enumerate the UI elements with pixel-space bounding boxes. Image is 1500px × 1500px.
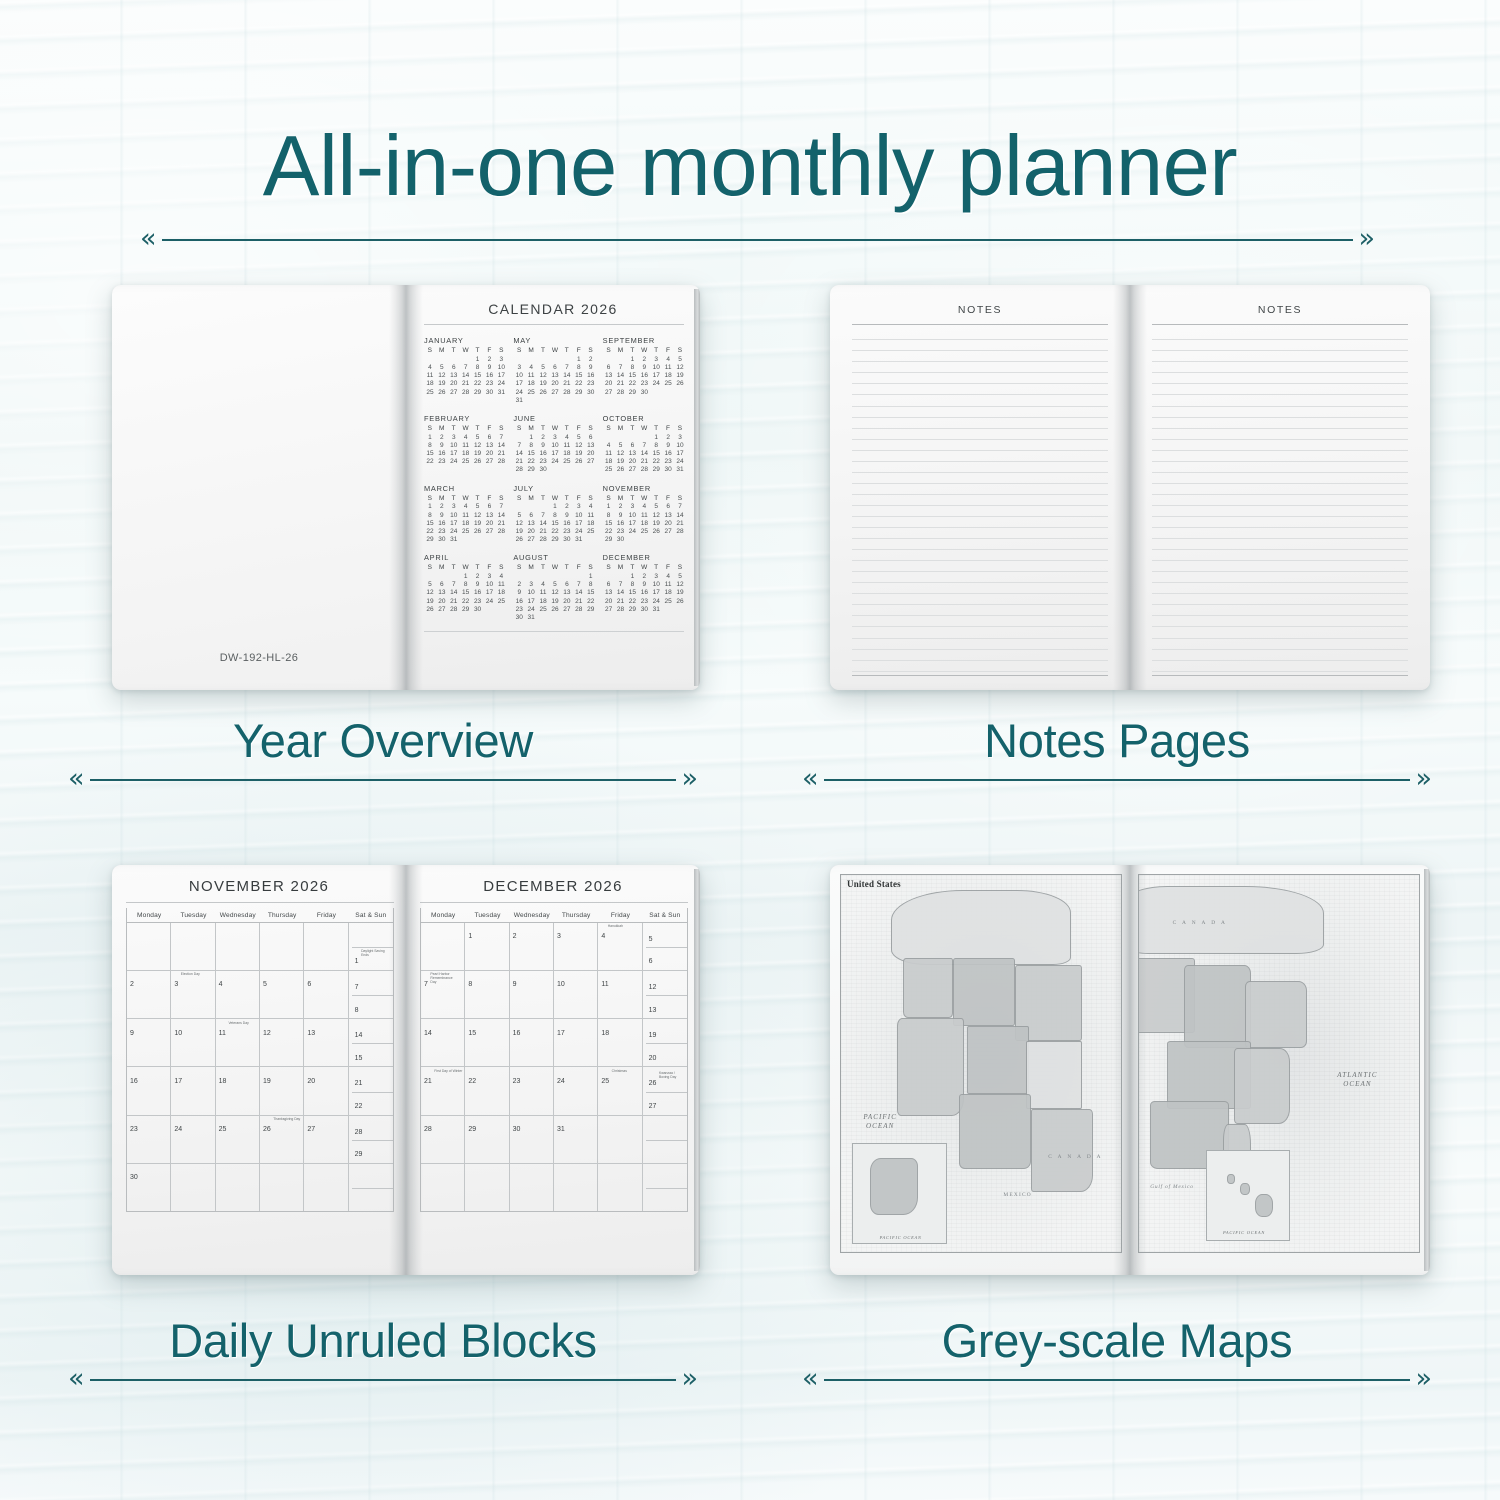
mini-calendar-week: 567891011 [513,512,596,520]
month-week-row: 1234Hanukkah56 [421,923,687,971]
map-label-inset-pacific: PACIFIC OCEAN [1215,1230,1272,1236]
map-landmass-texas [1031,1109,1093,1192]
weekend-day-cell[interactable]: 8 [352,995,393,1018]
day-cell[interactable]: 9 [510,971,554,1018]
weekday-header: Sat & Sun [643,908,687,922]
weekend-cell[interactable]: 26Kwanzaa / Boxing Day27 [643,1067,687,1114]
mini-calendar-week: 1234567 [603,503,686,511]
day-cell[interactable]: 6 [304,971,348,1018]
day-cell[interactable]: 3 [554,923,598,970]
day-cell[interactable]: 4 [216,971,260,1018]
day-cell[interactable] [260,923,304,970]
notes-line [1152,583,1408,594]
day-event-label: Thanksgiving Day [273,1118,300,1122]
day-cell[interactable] [216,923,260,970]
weekend-day-cell[interactable]: 15 [352,1043,393,1066]
day-number: 1 [468,933,472,940]
day-cell[interactable]: 12 [260,1019,304,1066]
weekend-cell[interactable]: 1213 [643,971,687,1018]
mini-calendar-week: 123 [424,356,507,364]
mini-calendar-week: 6789101112 [603,364,686,372]
day-number: 13 [649,1007,657,1014]
day-number: 16 [130,1078,138,1085]
day-number: 3 [174,981,178,988]
day-cell[interactable] [465,1164,509,1211]
weekend-cell[interactable]: 1920 [643,1019,687,1066]
day-cell[interactable]: 24 [554,1067,598,1114]
month-week-row: 16171819202122 [127,1067,393,1115]
mini-calendar-week: 3456789 [513,364,596,372]
day-cell[interactable]: 25Christmas [598,1067,642,1114]
day-cell[interactable]: 17 [554,1019,598,1066]
day-number: 25 [601,1078,609,1085]
weekend-day-cell[interactable]: 26Kwanzaa / Boxing Day [646,1070,687,1092]
day-cell[interactable]: 30 [127,1164,171,1211]
map-landmass-nevada-utah [967,1026,1029,1094]
weekend-day-cell[interactable] [352,925,393,947]
day-cell[interactable]: 23 [510,1067,554,1114]
book-edge [694,289,700,686]
mini-calendar-week: 123 [603,434,686,442]
day-cell[interactable]: 28 [421,1116,465,1163]
day-cell[interactable] [171,923,215,970]
notes-heading-left: NOTES [830,285,1130,316]
chevron-left-icon: « [140,228,164,252]
day-number: 12 [649,984,657,991]
weekend-day-cell[interactable] [352,1166,393,1188]
day-number: 18 [219,1078,227,1085]
weekday-header: Friday [304,908,348,922]
notes-line [852,539,1108,550]
weekday-header: Wednesday [216,908,260,922]
map-inset-hawaii: PACIFIC OCEAN [1206,1150,1290,1240]
mini-calendar-december: DECEMBERSMTWTFS1234567891011121314151617… [603,553,686,622]
mini-calendar-week: 12131415161718 [424,589,507,597]
day-number: 4 [219,981,223,988]
day-cell[interactable]: 1 [465,923,509,970]
month-week-row: 28293031 [421,1116,687,1164]
month-title-rule [420,902,688,903]
mini-calendar-week: 1234 [513,503,596,511]
day-cell[interactable]: 5 [260,971,304,1018]
day-cell[interactable]: 2 [127,971,171,1018]
notes-footer-rule [1152,675,1408,676]
day-cell[interactable] [260,1164,304,1211]
notes-line [1152,462,1408,473]
day-cell[interactable]: 23 [127,1116,171,1163]
day-cell[interactable] [598,1164,642,1211]
day-cell[interactable] [216,1164,260,1211]
weekend-cell[interactable]: 56 [643,923,687,970]
day-cell[interactable]: 2 [510,923,554,970]
weekend-day-cell[interactable]: 21 [352,1070,393,1092]
divider-notes-pages: « » [802,768,1432,792]
notes-line [852,605,1108,616]
notes-line [1152,329,1408,340]
notes-line [852,517,1108,528]
day-number: 9 [513,981,517,988]
mini-calendar-february: FEBRUARYSMTWTFS1234567891011121314151617… [424,414,507,475]
map-landmass-canada-east [1138,886,1324,954]
weekday-header: Thursday [554,908,598,922]
book-edge [694,869,700,1271]
mini-calendar-week: 18192021222324 [603,458,686,466]
mini-calendar-month-name: FEBRUARY [424,414,507,423]
mini-calendar-week: 19202122232425 [424,598,507,606]
day-cell[interactable]: 19 [260,1067,304,1114]
day-cell[interactable] [304,923,348,970]
map-landmass-california [897,1018,964,1116]
map-right-page: ATLANTIC OCEAN C A N A D A Gulf of Mexic… [1130,865,1430,1275]
mini-calendar-weekday-row: SMTWTFS [603,564,686,572]
map-left-page: United States PACIFIC OCEAN C A N A D A … [830,865,1130,1275]
divider-line [824,779,1410,781]
page-title: All-in-one monthly planner [0,118,1500,216]
day-cell[interactable]: 17 [171,1067,215,1114]
map-landmass-pnw [903,958,953,1018]
day-number: 14 [355,1032,363,1039]
weekend-cell[interactable] [349,1164,393,1211]
caption-grey-scale-maps: Grey-scale Maps [802,1313,1432,1368]
map-label-canada: C A N A D A [1048,1154,1103,1160]
day-cell[interactable]: 30 [510,1116,554,1163]
notes-line [1152,484,1408,495]
sku-label: DW-192-HL-26 [112,652,406,664]
mini-calendar-week: 13141516171819 [603,589,686,597]
map-frame-left: United States PACIFIC OCEAN C A N A D A … [840,874,1122,1253]
map-title: United States [847,879,901,889]
day-event-label: Kwanzaa / Boxing Day [659,1072,686,1080]
mini-calendar-weekday-row: SMTWTFS [603,425,686,433]
notes-line [1152,506,1408,517]
weekend-day-cell[interactable]: 20 [646,1043,687,1066]
day-number: 17 [557,1030,565,1037]
mini-calendar-week: 16171819202122 [513,598,596,606]
day-number: 21 [424,1078,432,1085]
notes-line [852,506,1108,517]
map-label-inset-pacific: PACIFIC OCEAN [872,1235,930,1241]
day-number: 4 [601,933,605,940]
weekend-day-cell[interactable]: 19 [646,1022,687,1044]
map-landmass-alaska [870,1158,918,1216]
mini-calendar-january: JANUARYSMTWTFS12345678910111213141516171… [424,336,507,405]
day-number: 20 [649,1055,657,1062]
day-cell[interactable]: 24 [171,1116,215,1163]
notes-line [1152,517,1408,528]
notes-line [1152,418,1408,429]
day-cell[interactable] [127,923,171,970]
day-cell[interactable]: 4Hanukkah [598,923,642,970]
day-number: 10 [557,981,565,988]
day-number: 16 [513,1030,521,1037]
day-cell[interactable]: 16 [127,1067,171,1114]
chevron-right-icon: » [1408,768,1432,792]
notes-line [852,451,1108,462]
map-landmass-northern-plains [953,958,1015,1026]
weekend-cell[interactable]: 2829 [349,1116,393,1163]
day-cell[interactable]: 10 [171,1019,215,1066]
day-cell[interactable]: 22 [465,1067,509,1114]
book-edge [1424,869,1430,1271]
weekend-day-cell[interactable]: 7 [352,973,393,995]
mini-calendar-week: 14151617181920 [513,450,596,458]
weekday-header: Monday [421,908,465,922]
mini-calendar-week: 10111213141516 [513,372,596,380]
mini-calendar-week: 2627282930 [424,606,507,614]
mini-calendar-week: 17181920212223 [513,380,596,388]
day-cell[interactable] [421,1164,465,1211]
day-cell[interactable]: 13 [304,1019,348,1066]
weekend-day-cell[interactable] [646,1188,687,1211]
notes-ruled-lines-left [830,329,1130,671]
day-cell[interactable]: 26Thanksgiving Day [260,1116,304,1163]
monthly-right-page: DECEMBER 2026 MondayTuesdayWednesdayThur… [406,865,700,1275]
day-cell[interactable]: 18 [598,1019,642,1066]
day-cell[interactable] [421,923,465,970]
notes-line [1152,661,1408,672]
notes-line [1152,429,1408,440]
mini-calendar-week: 22232425262728 [603,528,686,536]
day-event-label: Pearl Harbor Remembrance Day [430,973,458,985]
day-cell[interactable] [598,1116,642,1163]
notes-line [852,373,1108,384]
weekend-day-cell[interactable]: 5 [646,925,687,947]
day-cell[interactable]: 29 [465,1116,509,1163]
notes-line [1152,451,1408,462]
mini-calendar-week: 23242526272829 [513,606,596,614]
notes-footer-rule [852,675,1108,676]
mini-calendar-week: 293031 [424,536,507,544]
month-week-row: 23242526Thanksgiving Day272829 [127,1116,393,1164]
weekend-day-cell[interactable]: 14 [352,1022,393,1044]
weekend-day-cell[interactable] [352,1188,393,1211]
divider-line [90,1379,676,1381]
day-event-label: Christmas [612,1070,627,1074]
mini-calendar-april: APRILSMTWTFS1234567891011121314151617181… [424,553,507,622]
day-cell[interactable]: 27 [304,1116,348,1163]
caption-daily-unruled-blocks: Daily Unruled Blocks [68,1313,698,1368]
notes-heading-rule [1152,324,1408,325]
day-cell[interactable]: 18 [216,1067,260,1114]
weekend-cell[interactable]: 1415 [349,1019,393,1066]
mini-calendar-week: 282930 [513,466,596,474]
day-cell[interactable] [554,1164,598,1211]
weekend-day-cell[interactable]: 6 [646,947,687,970]
mini-calendar-week: 20212223242526 [603,380,686,388]
monthly-planner-book: NOVEMBER 2026 MondayTuesdayWednesdayThur… [112,865,700,1275]
chevron-right-icon: » [1408,1368,1432,1392]
weekend-day-cell[interactable] [646,1140,687,1163]
weekday-header: Sat & Sun [349,908,393,922]
map-frame-right: ATLANTIC OCEAN C A N A D A Gulf of Mexic… [1138,874,1420,1253]
notes-line [852,550,1108,561]
day-number: 7 [355,984,359,991]
notes-line [852,407,1108,418]
day-number: 27 [307,1126,315,1133]
chevron-left-icon: « [802,768,826,792]
map-landmass-northeast [1245,981,1307,1049]
notes-line [1152,384,1408,395]
notes-line [1152,340,1408,351]
day-number: 1 [355,958,359,965]
month-title-right: DECEMBER 2026 [406,865,700,895]
mini-calendar-week: 25262728293031 [424,389,507,397]
weekend-cell[interactable] [643,1164,687,1211]
weekend-day-cell[interactable] [646,1166,687,1188]
weekend-cell[interactable]: 78 [349,971,393,1018]
mini-calendar-weekday-row: SMTWTFS [513,347,596,355]
day-number: 2 [130,981,134,988]
mini-calendar-july: JULYSMTWTFS12345678910111213141516171819… [513,484,596,545]
maps-book: United States PACIFIC OCEAN C A N A D A … [830,865,1430,1275]
day-number: 22 [355,1103,363,1110]
day-number: 24 [557,1078,565,1085]
month-week-row: 7Pearl Harbor Remembrance Day8910111213 [421,971,687,1019]
notes-heading-rule [852,324,1108,325]
mini-calendar-week: 1234567 [424,503,507,511]
weekend-day-cell[interactable]: 27 [646,1092,687,1115]
day-number: 22 [468,1078,476,1085]
weekend-cell[interactable]: 1Daylight Saving Ends [349,923,393,970]
notes-line [1152,473,1408,484]
day-cell[interactable]: 8 [465,971,509,1018]
mini-calendar-week: 18192021222324 [424,380,507,388]
divider-top: « » [140,228,1375,252]
mini-calendar-september: SEPTEMBERSMTWTFS123456789101112131415161… [603,336,686,405]
day-cell[interactable]: 11 [598,971,642,1018]
mini-calendar-month-name: OCTOBER [603,414,686,423]
notes-line [1152,616,1408,627]
day-cell[interactable]: 20 [304,1067,348,1114]
weekend-cell[interactable] [643,1116,687,1163]
day-event-label: Daylight Saving Ends [361,950,388,958]
month-week-row: 14151617181920 [421,1019,687,1067]
monthly-left-page: NOVEMBER 2026 MondayTuesdayWednesdayThur… [112,865,406,1275]
day-cell[interactable]: 9 [127,1019,171,1066]
day-number: 24 [174,1126,182,1133]
weekend-cell[interactable]: 2122 [349,1067,393,1114]
map-landmass-colorado [1026,1041,1082,1109]
mini-calendar-week: 12 [513,356,596,364]
mini-calendar-week: 22232425262728 [424,458,507,466]
day-number: 11 [601,981,608,988]
weekday-header: Wednesday [510,908,554,922]
mini-calendar-week: 15161718192021 [424,450,507,458]
mini-calendar-weekday-row: SMTWTFS [424,495,507,503]
mini-calendar-week: 15161718192021 [424,520,507,528]
day-cell[interactable]: 21First Day of Winter [421,1067,465,1114]
notes-line [1152,627,1408,638]
month-grid-right: MondayTuesdayWednesdayThursdayFridaySat … [420,908,688,1212]
mini-calendar-week: 20212223242526 [603,598,686,606]
day-cell[interactable]: 10 [554,971,598,1018]
mini-calendar-week: 12345 [603,356,686,364]
mini-calendar-week: 2345678 [513,581,596,589]
day-cell[interactable]: 15 [465,1019,509,1066]
day-number: 29 [355,1151,363,1158]
map-landmass-southwest [959,1094,1032,1169]
mini-calendar-week: 3031 [513,614,596,622]
day-cell[interactable]: 16 [510,1019,554,1066]
notes-left-page: NOTES [830,285,1130,690]
weekday-header: Tuesday [171,908,215,922]
mini-calendar-month-name: NOVEMBER [603,484,686,493]
notes-line [1152,395,1408,406]
day-cell[interactable] [304,1164,348,1211]
map-landmass-hawaii [1255,1194,1273,1217]
weekend-day-cell[interactable] [646,1118,687,1140]
day-cell[interactable]: 7Pearl Harbor Remembrance Day [421,971,465,1018]
day-cell[interactable]: 25 [216,1116,260,1163]
map-landmass-maui [1240,1183,1250,1195]
mini-calendar-month-name: JUNE [513,414,596,423]
mini-calendar-weekday-row: SMTWTFS [424,425,507,433]
mini-calendar-week: 21222324252627 [513,458,596,466]
mini-calendar-week: 1 [513,573,596,581]
mini-calendar-month-name: MAY [513,336,596,345]
mini-calendar-week: 13141516171819 [603,372,686,380]
map-label-mexico: MEXICO [1003,1192,1031,1198]
notes-ruled-lines-right [1130,329,1430,671]
day-cell[interactable]: 11Veterans Day [216,1019,260,1066]
mini-calendar-weekday-row: SMTWTFS [424,347,507,355]
day-number: 17 [174,1078,182,1085]
weekend-day-cell[interactable]: 13 [646,995,687,1018]
day-cell[interactable]: 14 [421,1019,465,1066]
mini-calendar-weekday-row: SMTWTFS [424,564,507,572]
notes-line [852,639,1108,650]
notes-line [852,650,1108,661]
weekday-header-row: MondayTuesdayWednesdayThursdayFridaySat … [127,908,393,923]
day-number: 19 [649,1032,657,1039]
day-number: 12 [263,1030,271,1037]
weekend-day-cell[interactable]: 12 [646,973,687,995]
weekend-day-cell[interactable]: 22 [352,1092,393,1115]
day-cell[interactable]: 3Election Day [171,971,215,1018]
mini-calendar-month-name: SEPTEMBER [603,336,686,345]
notes-line [852,616,1108,627]
mini-calendar-month-name: JANUARY [424,336,507,345]
day-number: 21 [355,1080,363,1087]
caption-year-overview: Year Overview [68,713,698,768]
mini-calendar-week: 2728293031 [603,606,686,614]
divider-line [824,1379,1410,1381]
month-week-row: 30 [127,1164,393,1211]
weekend-day-cell[interactable]: 28 [352,1118,393,1140]
notes-line [1152,605,1408,616]
notes-line [852,528,1108,539]
map-label-atlantic-ocean: ATLANTIC OCEAN [1321,1071,1394,1090]
mini-calendar-weekday-row: SMTWTFS [513,564,596,572]
year-overview-right-page: CALENDAR 2026 JANUARYSMTWTFS123456789101… [406,285,700,690]
month-week-row: 91011Veterans Day12131415 [127,1019,393,1067]
day-cell[interactable] [171,1164,215,1211]
map-landmass-greatlakes [1184,965,1251,1048]
map-label-canada: C A N A D A [1173,920,1228,926]
notes-line [852,627,1108,638]
day-cell[interactable]: 31 [554,1116,598,1163]
notes-line [852,429,1108,440]
notes-line [1152,528,1408,539]
day-number: 30 [130,1174,138,1181]
month-week-row: 23Election Day45678 [127,971,393,1019]
weekend-day-cell[interactable]: 1Daylight Saving Ends [352,947,393,970]
mini-calendar-week: 22232425262728 [424,528,507,536]
weekend-day-cell[interactable]: 29 [352,1140,393,1163]
mini-calendar-weekday-row: SMTWTFS [603,347,686,355]
mini-calendar-week: 24252627282930 [513,389,596,397]
day-cell[interactable] [510,1164,554,1211]
